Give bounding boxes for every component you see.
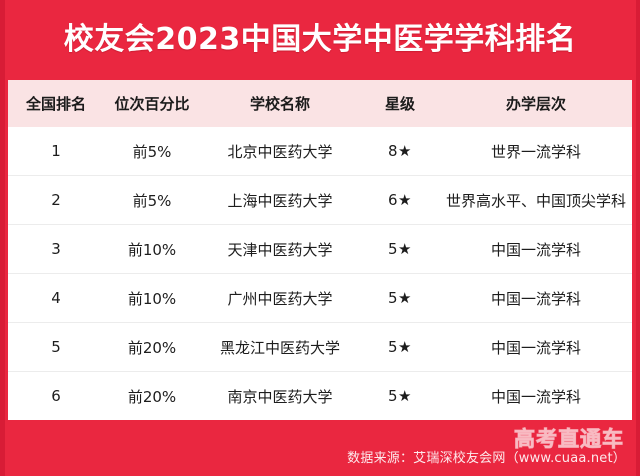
column-header-rank: 全国排名 [8, 80, 104, 127]
cell-level: 中国一流学科 [440, 274, 632, 323]
ranking-table-card: 全国排名 位次百分比 学校名称 星级 办学层次 1 前5% 北京中医药大学 8★… [8, 80, 632, 420]
table-row: 5 前20% 黑龙江中医药大学 5★ 中国一流学科 [8, 323, 632, 372]
ranking-table: 全国排名 位次百分比 学校名称 星级 办学层次 1 前5% 北京中医药大学 8★… [8, 80, 632, 420]
page-title: 校友会2023中国大学中医学学科排名 [64, 25, 577, 55]
cell-school: 北京中医药大学 [200, 127, 360, 176]
cell-level: 中国一流学科 [440, 225, 632, 274]
cell-rank: 5 [8, 323, 104, 372]
cell-rank: 1 [8, 127, 104, 176]
cell-rank: 4 [8, 274, 104, 323]
table-row: 2 前5% 上海中医药大学 6★ 世界高水平、中国顶尖学科 [8, 176, 632, 225]
table-header: 全国排名 位次百分比 学校名称 星级 办学层次 [8, 80, 632, 127]
cell-level: 中国一流学科 [440, 323, 632, 372]
cell-rank: 6 [8, 372, 104, 421]
footer: 高考直通车 数据来源：艾瑞深校友会网（www.cuaa.net） [0, 420, 640, 476]
cell-star: 5★ [360, 225, 440, 274]
table-row: 3 前10% 天津中医药大学 5★ 中国一流学科 [8, 225, 632, 274]
data-source-text: 数据来源：艾瑞深校友会网（www.cuaa.net） [347, 447, 626, 466]
cell-level: 世界一流学科 [440, 127, 632, 176]
cell-star: 5★ [360, 323, 440, 372]
cell-level: 世界高水平、中国顶尖学科 [440, 176, 632, 225]
table-row: 6 前20% 南京中医药大学 5★ 中国一流学科 [8, 372, 632, 421]
cell-school: 黑龙江中医药大学 [200, 323, 360, 372]
cell-star: 5★ [360, 274, 440, 323]
cell-percentile: 前20% [104, 323, 200, 372]
cell-star: 8★ [360, 127, 440, 176]
cell-percentile: 前5% [104, 127, 200, 176]
column-header-level: 办学层次 [440, 80, 632, 127]
cell-rank: 3 [8, 225, 104, 274]
cell-star: 6★ [360, 176, 440, 225]
cell-school: 上海中医药大学 [200, 176, 360, 225]
cell-rank: 2 [8, 176, 104, 225]
cell-school: 南京中医药大学 [200, 372, 360, 421]
title-banner: 校友会2023中国大学中医学学科排名 [0, 0, 640, 80]
column-header-percentile: 位次百分比 [104, 80, 200, 127]
table-body: 1 前5% 北京中医药大学 8★ 世界一流学科 2 前5% 上海中医药大学 6★… [8, 127, 632, 420]
cell-percentile: 前10% [104, 225, 200, 274]
table-row: 4 前10% 广州中医药大学 5★ 中国一流学科 [8, 274, 632, 323]
column-header-star: 星级 [360, 80, 440, 127]
cell-school: 广州中医药大学 [200, 274, 360, 323]
cell-percentile: 前10% [104, 274, 200, 323]
cell-percentile: 前20% [104, 372, 200, 421]
cell-level: 中国一流学科 [440, 372, 632, 421]
ranking-poster: 校友会2023中国大学中医学学科排名 全国排名 位次百分比 学校名称 星级 办学… [0, 0, 640, 476]
column-header-school: 学校名称 [200, 80, 360, 127]
cell-school: 天津中医药大学 [200, 225, 360, 274]
cell-percentile: 前5% [104, 176, 200, 225]
table-header-row: 全国排名 位次百分比 学校名称 星级 办学层次 [8, 80, 632, 127]
cell-star: 5★ [360, 372, 440, 421]
table-row: 1 前5% 北京中医药大学 8★ 世界一流学科 [8, 127, 632, 176]
